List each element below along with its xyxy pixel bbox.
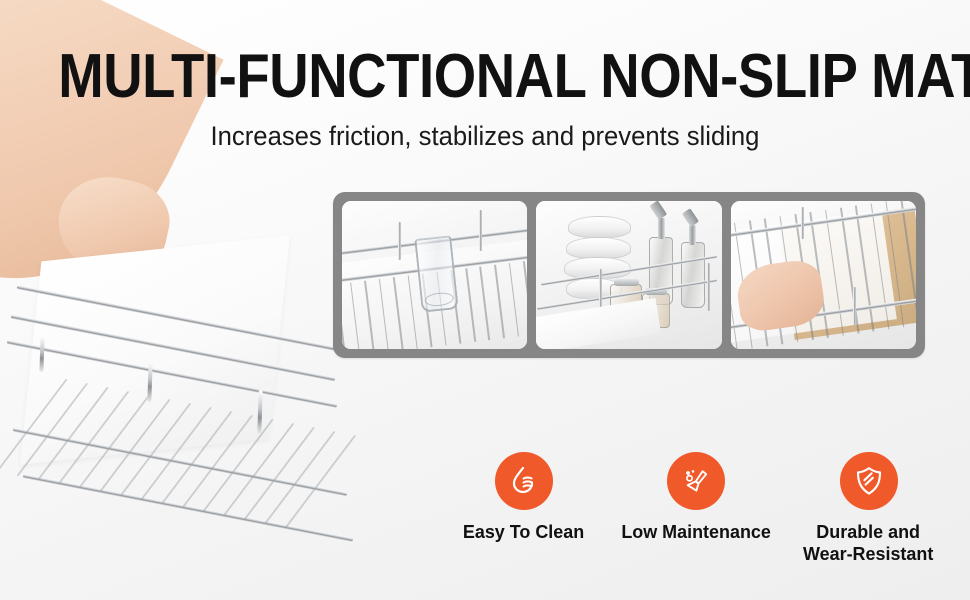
bowl <box>566 237 631 259</box>
hero-product-image <box>0 150 370 600</box>
drinking-glass <box>414 235 459 312</box>
promo-banner: MULTI-FUNCTIONAL NON-SLIP MAT Increases … <box>0 0 970 600</box>
shield-icon <box>840 452 898 510</box>
feature-durable-wear-resistant: Durable and Wear-Resistant <box>791 452 946 565</box>
feature-list: Easy To Clean Low Maintenance <box>446 452 946 572</box>
photo-bowls-and-oil-bottles <box>536 201 721 349</box>
brush-bubbles-icon <box>667 452 725 510</box>
feature-low-maintenance: Low Maintenance <box>619 452 774 543</box>
photo-panel <box>333 192 925 358</box>
chrome-wire-basket <box>0 310 370 600</box>
feature-label: Low Maintenance <box>621 521 771 543</box>
photo-glass-on-basket <box>342 201 527 349</box>
oil-bottle <box>681 242 705 307</box>
feature-label: Durable and Wear-Resistant <box>803 521 933 565</box>
feature-easy-to-clean: Easy To Clean <box>446 452 601 543</box>
feature-label: Easy To Clean <box>463 521 584 543</box>
water-droplet-icon <box>495 452 553 510</box>
page-title: MULTI-FUNCTIONAL NON-SLIP MAT <box>58 46 912 108</box>
bowl <box>568 216 631 238</box>
photo-hand-peeling-mat <box>731 201 916 349</box>
page-subtitle: Increases friction, stabilizes and preve… <box>24 119 946 153</box>
